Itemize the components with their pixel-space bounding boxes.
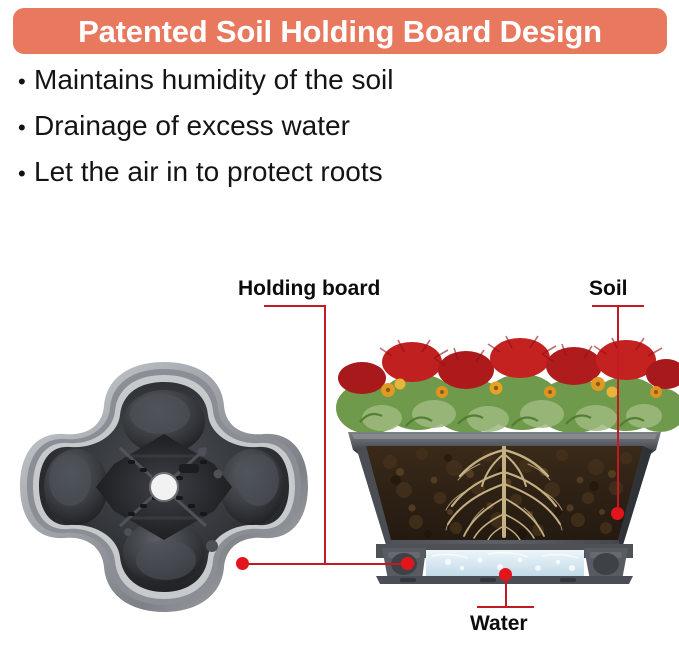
feature-text: Maintains humidity of the soil: [34, 66, 394, 94]
leader-line-holding-board-horizontal: [243, 563, 415, 565]
leader-dot-soil: [611, 507, 624, 520]
list-item: • Maintains humidity of the soil: [18, 66, 578, 112]
leader-line-water-vertical: [505, 578, 507, 607]
leader-line-water-cap: [477, 606, 534, 608]
bullet-icon: •: [18, 117, 34, 139]
bullet-icon: •: [18, 71, 34, 93]
page-title: Patented Soil Holding Board Design: [78, 16, 602, 47]
callout-label-water: Water: [470, 613, 528, 634]
leader-dot-board: [236, 557, 249, 570]
leader-line-holding-board-vertical: [324, 305, 326, 564]
list-item: • Let the air in to protect roots: [18, 158, 578, 204]
feature-text: Let the air in to protect roots: [34, 158, 383, 186]
plant-foliage: [336, 336, 679, 434]
list-item: • Drainage of excess water: [18, 112, 578, 158]
callout-label-soil: Soil: [589, 278, 628, 299]
infographic-page: Patented Soil Holding Board Design • Mai…: [0, 0, 679, 651]
leader-line-holding-board-cap: [264, 305, 324, 307]
lobe-left-highlight: [49, 454, 91, 506]
lobe-right-highlight: [237, 454, 279, 506]
lobe-bottom-highlight: [136, 540, 196, 580]
header-banner: Patented Soil Holding Board Design: [13, 8, 667, 54]
feature-text: Drainage of excess water: [34, 112, 350, 140]
leader-line-soil-vertical: [617, 305, 619, 513]
callout-label-holding-board: Holding board: [238, 278, 380, 299]
leader-dot-planter-board: [401, 557, 414, 570]
feature-list: • Maintains humidity of the soil • Drain…: [18, 66, 578, 204]
soil-holding-board-image: [16, 356, 312, 618]
leader-dot-water: [499, 568, 512, 581]
lobe-top-highlight: [130, 394, 190, 434]
pot-rim-highlight: [352, 434, 657, 439]
planter-cross-section-image: [330, 322, 679, 590]
bullet-icon: •: [18, 163, 34, 185]
